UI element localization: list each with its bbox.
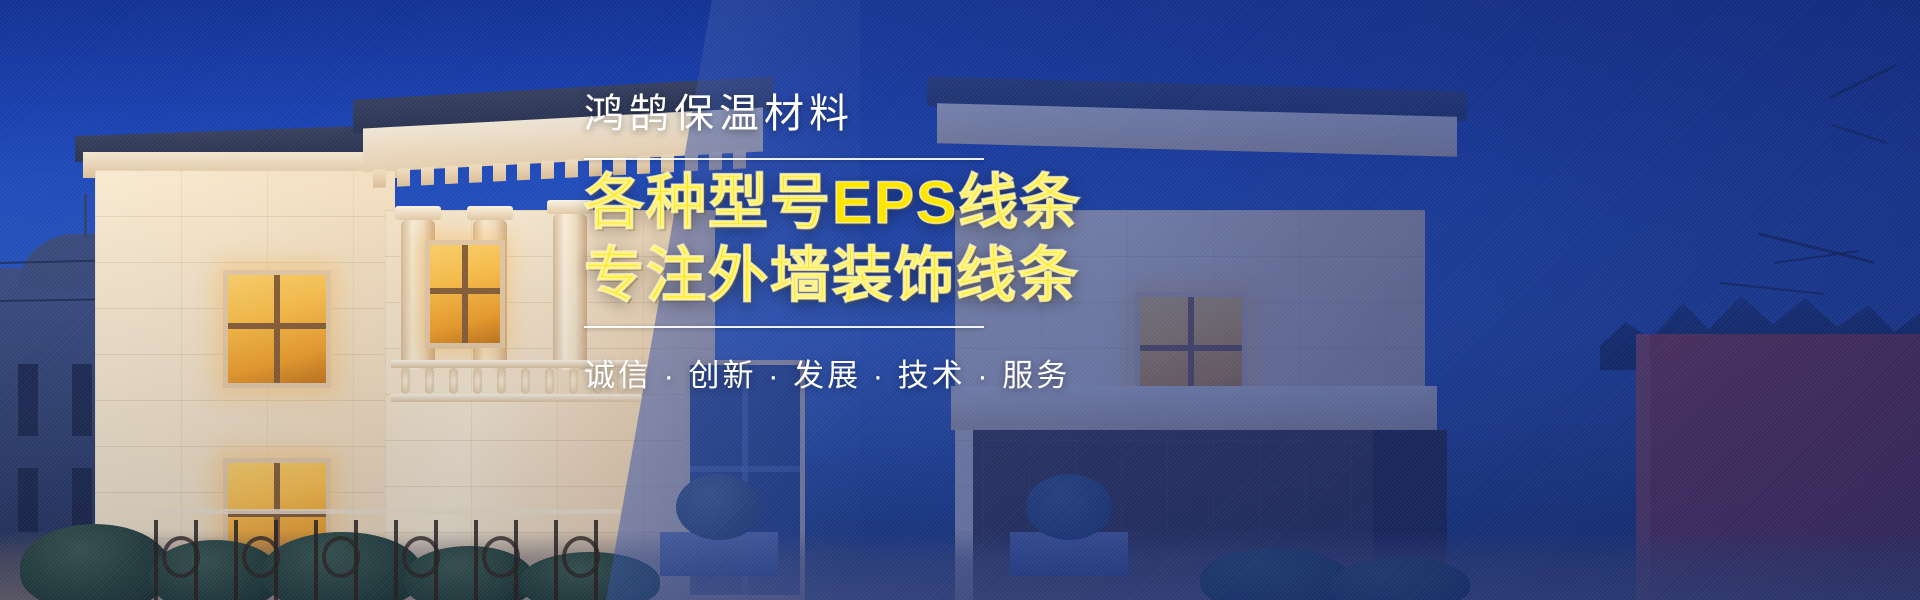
divider-top xyxy=(584,158,984,160)
divider-bottom xyxy=(584,326,984,328)
headline-line-1: 各种型号EPS线条 xyxy=(584,166,1684,239)
promo-banner: 鸿鹄保温材料 各种型号EPS线条 专注外墙装饰线条 诚信 · 创新 · 发展 ·… xyxy=(0,0,1920,600)
brand-name: 鸿鹄保温材料 xyxy=(584,92,1684,136)
headline-line-2: 专注外墙装饰线条 xyxy=(584,239,1684,312)
banner-content: 鸿鹄保温材料 各种型号EPS线条 专注外墙装饰线条 诚信 · 创新 · 发展 ·… xyxy=(584,92,1684,395)
tagline: 诚信 · 创新 · 发展 · 技术 · 服务 xyxy=(584,350,1684,395)
